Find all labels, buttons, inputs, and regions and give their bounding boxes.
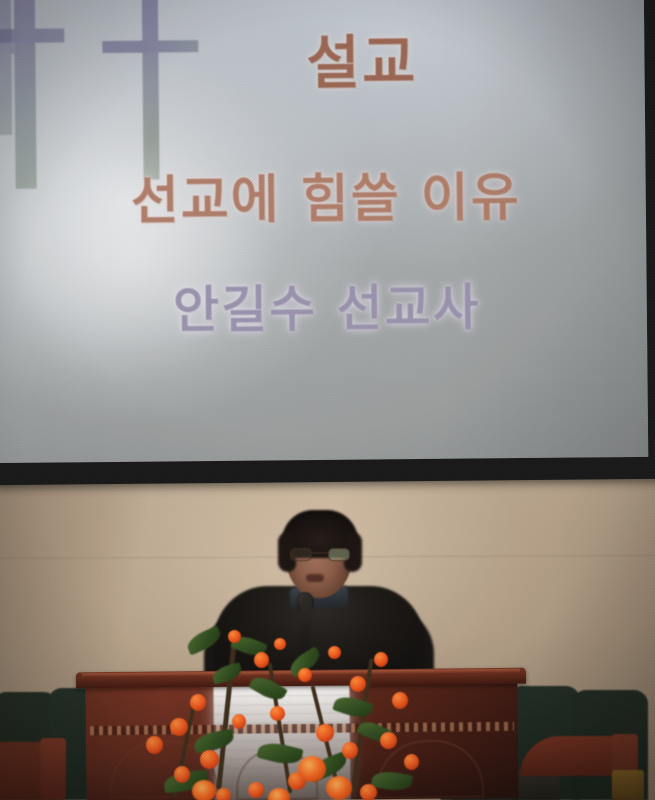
berry (174, 766, 190, 783)
berry (146, 736, 163, 754)
berry (248, 782, 264, 798)
flower-bloom (192, 780, 216, 800)
glasses-lens-right (328, 548, 350, 561)
berry (374, 652, 388, 667)
leaf (256, 739, 303, 768)
berry (404, 754, 419, 770)
photograph-scene: 설교 선교에 힘쓸 이유 안길수 선교사 (0, 0, 655, 800)
slide-title: 설교 (0, 31, 645, 95)
berry (254, 652, 269, 668)
berry (360, 784, 377, 800)
glasses-lens-left (290, 548, 312, 561)
leaf (371, 769, 414, 794)
projection-screen: 설교 선교에 힘쓸 이유 안길수 선교사 (0, 0, 648, 463)
flower-bloom (326, 776, 352, 800)
chair-armrest (0, 742, 44, 800)
flower-bloom (268, 788, 290, 800)
berry (316, 724, 334, 742)
berry (216, 788, 231, 800)
berry (200, 750, 219, 769)
leaf (193, 729, 236, 754)
slide-subject-line: 선교에 힘쓸 이유 (0, 171, 646, 229)
berry (228, 630, 241, 643)
chair-armrest (40, 738, 66, 800)
glasses-icon (290, 548, 350, 561)
brass-fixture (612, 770, 644, 800)
flower-arrangement (128, 636, 428, 800)
berry (170, 718, 188, 736)
berry (232, 714, 246, 729)
glasses-bridge (312, 552, 328, 554)
berry (342, 742, 358, 759)
slide-speaker-line: 안길수 선교사 (0, 281, 647, 337)
berry (380, 732, 397, 749)
mouth (306, 574, 324, 582)
berry (274, 638, 286, 650)
berry (350, 676, 366, 692)
leaf (248, 672, 288, 705)
berry (328, 646, 341, 659)
berry (190, 694, 206, 711)
berry (392, 692, 408, 709)
berry (298, 668, 312, 682)
flower-bloom (298, 756, 326, 782)
berry (270, 706, 285, 721)
